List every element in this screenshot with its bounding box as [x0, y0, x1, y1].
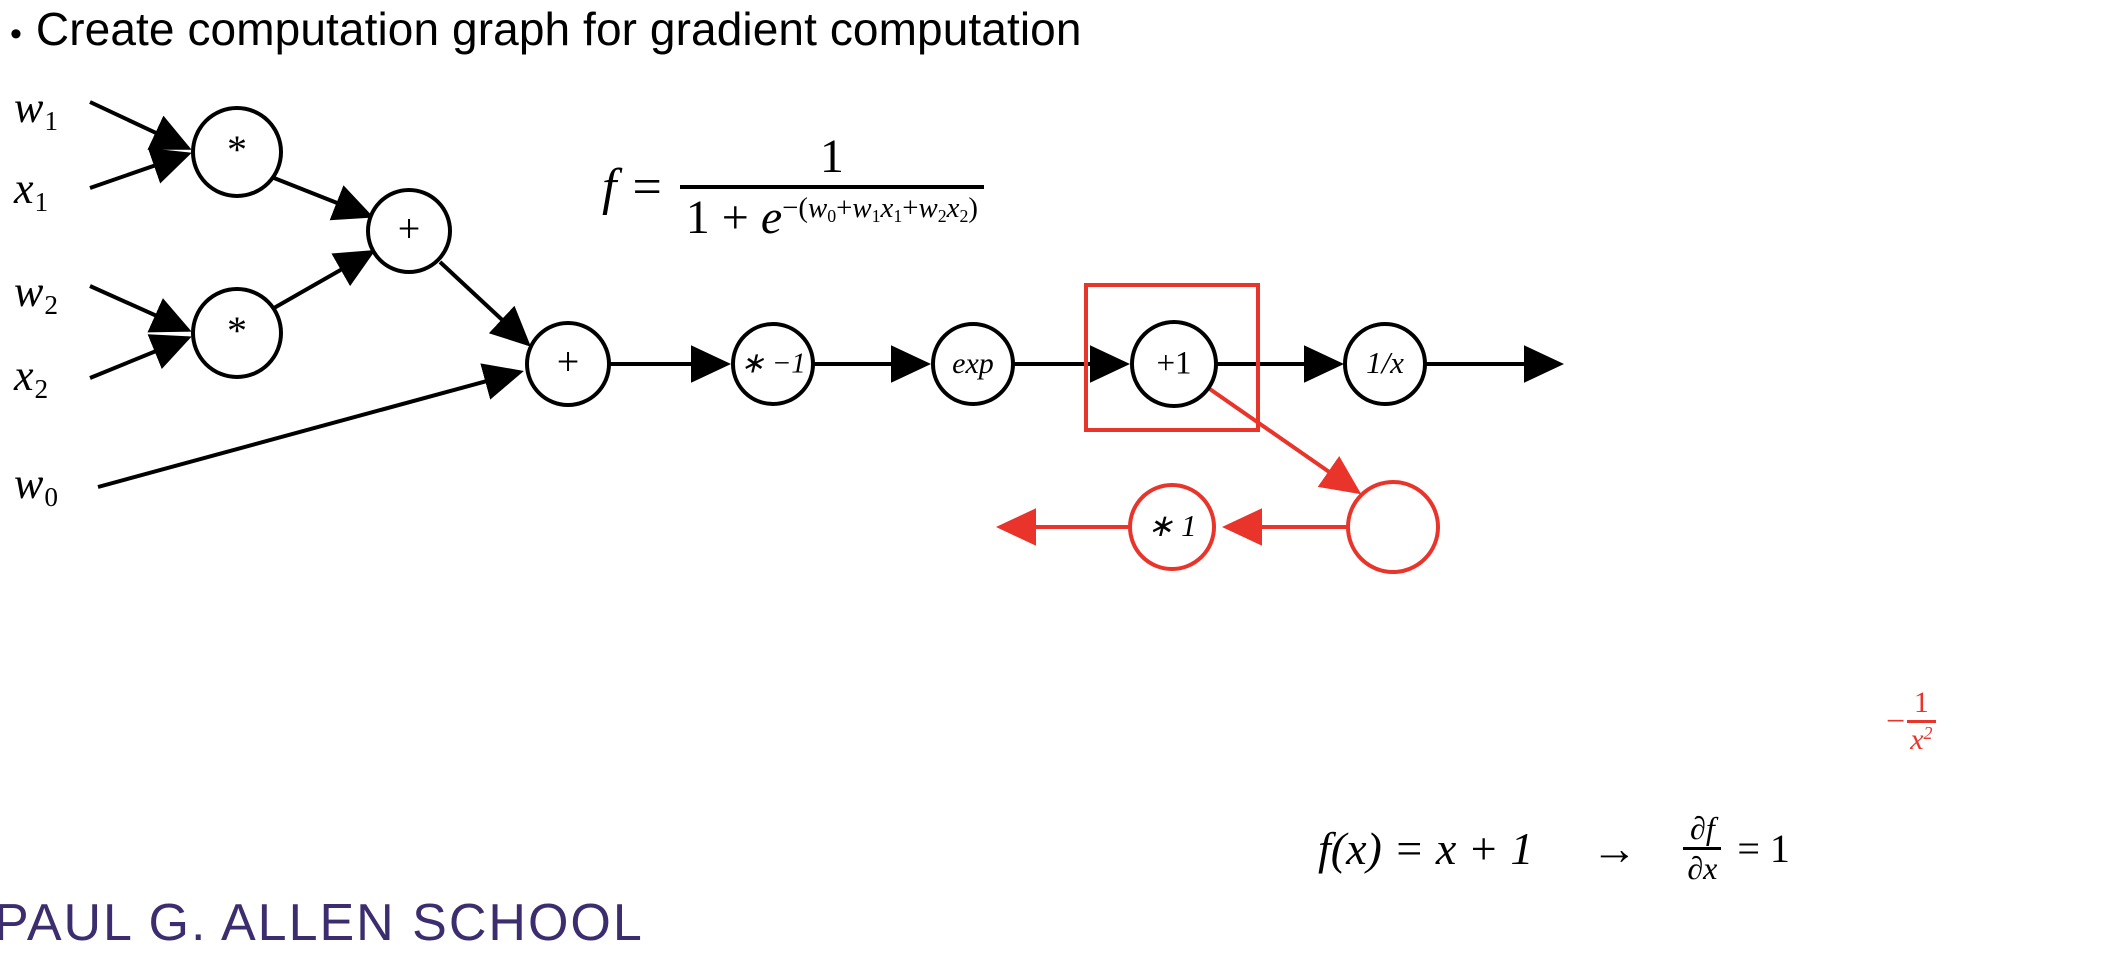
node-label: + [557, 339, 580, 384]
computation-graph: * * + + ∗ −1 exp +1 1/x ∗ 1 [0, 0, 2116, 950]
input-label-w1: w1 [14, 82, 58, 137]
edge-mul-bot-to-sum-1 [274, 252, 372, 308]
denominator-base: e [761, 191, 782, 244]
node-label: * [227, 127, 247, 172]
input-label-w0: w0 [14, 458, 58, 513]
derivative-function: f(x) = x + 1 [1318, 822, 1533, 875]
node-label: + [398, 206, 421, 251]
node-reciprocal[interactable]: 1/x [1345, 324, 1425, 404]
node-exp[interactable]: exp [933, 324, 1013, 404]
node-times-minus-one[interactable]: ∗ −1 [733, 324, 813, 404]
footer-logo-text: PAUL G. ALLEN SCHOOL [0, 893, 644, 953]
node-label: ∗ −1 [740, 348, 806, 380]
formula-denominator: 1 + e−(w0+w1x1+w2x2) [680, 189, 984, 246]
formula-fraction: 1 1 + e−(w0+w1x1+w2x2) [680, 128, 984, 246]
sigmoid-formula: f = 1 1 + e−(w0+w1x1+w2x2) [602, 128, 984, 246]
edge-x1-to-mul-top [90, 154, 188, 188]
edge-plus-one-to-neg-inv-sq [1204, 385, 1358, 492]
derivative-denominator: ∂x [1683, 850, 1721, 887]
edge-w0-to-sum-2 [98, 372, 520, 487]
derivative-numerator: ∂f [1686, 810, 1719, 847]
arrow-right-icon: → [1591, 822, 1637, 875]
fraction-numerator: 1 [1911, 686, 1932, 720]
derivative-expression: ∂f ∂x = 1 [1683, 810, 1790, 887]
node-sum-2[interactable]: + [527, 323, 609, 405]
edge-w1-to-mul-top [90, 102, 188, 148]
denominator-exponent: −(w0+w1x1+w2x2) [782, 192, 978, 224]
input-label-x1: x1 [14, 163, 48, 218]
node-label: +1 [1156, 346, 1191, 382]
derivative-note: f(x) = x + 1 → ∂f ∂x = 1 [1318, 810, 1790, 887]
node-label: * [227, 308, 247, 353]
node-mul-bot[interactable]: * [193, 289, 281, 377]
derivative-result: = 1 [1737, 825, 1790, 872]
edge-group-inputs [90, 102, 520, 487]
node-mul-top[interactable]: * [193, 108, 281, 196]
input-label-x2: x2 [14, 350, 48, 405]
neg-inverse-square-label: − 1 x2 [1886, 686, 1936, 757]
node-plus-one[interactable]: +1 [1132, 322, 1216, 406]
minus-sign: − [1886, 705, 1905, 739]
fraction-denominator: x2 [1907, 723, 1935, 757]
node-sum-1[interactable]: + [368, 190, 450, 272]
formula-lhs: f [602, 158, 616, 217]
denominator-prefix: 1 + [686, 191, 761, 244]
node-label: exp [952, 347, 994, 380]
node-neg-inverse-square[interactable] [1348, 482, 1438, 572]
node-label: 1/x [1366, 345, 1404, 380]
node-circle[interactable] [1348, 482, 1438, 572]
edge-sum-1-to-sum-2 [440, 262, 528, 344]
edge-x2-to-mul-bot [90, 338, 188, 378]
node-times-one[interactable]: ∗ 1 [1130, 485, 1214, 569]
node-label: ∗ 1 [1147, 508, 1196, 543]
edge-mul-top-to-sum-1 [274, 178, 370, 216]
formula-equals: = [632, 158, 661, 217]
derivative-fraction: ∂f ∂x [1683, 810, 1721, 887]
edge-w2-to-mul-bot [90, 286, 188, 330]
formula-numerator: 1 [814, 128, 850, 185]
input-label-w2: w2 [14, 266, 58, 321]
fraction: 1 x2 [1907, 686, 1935, 757]
